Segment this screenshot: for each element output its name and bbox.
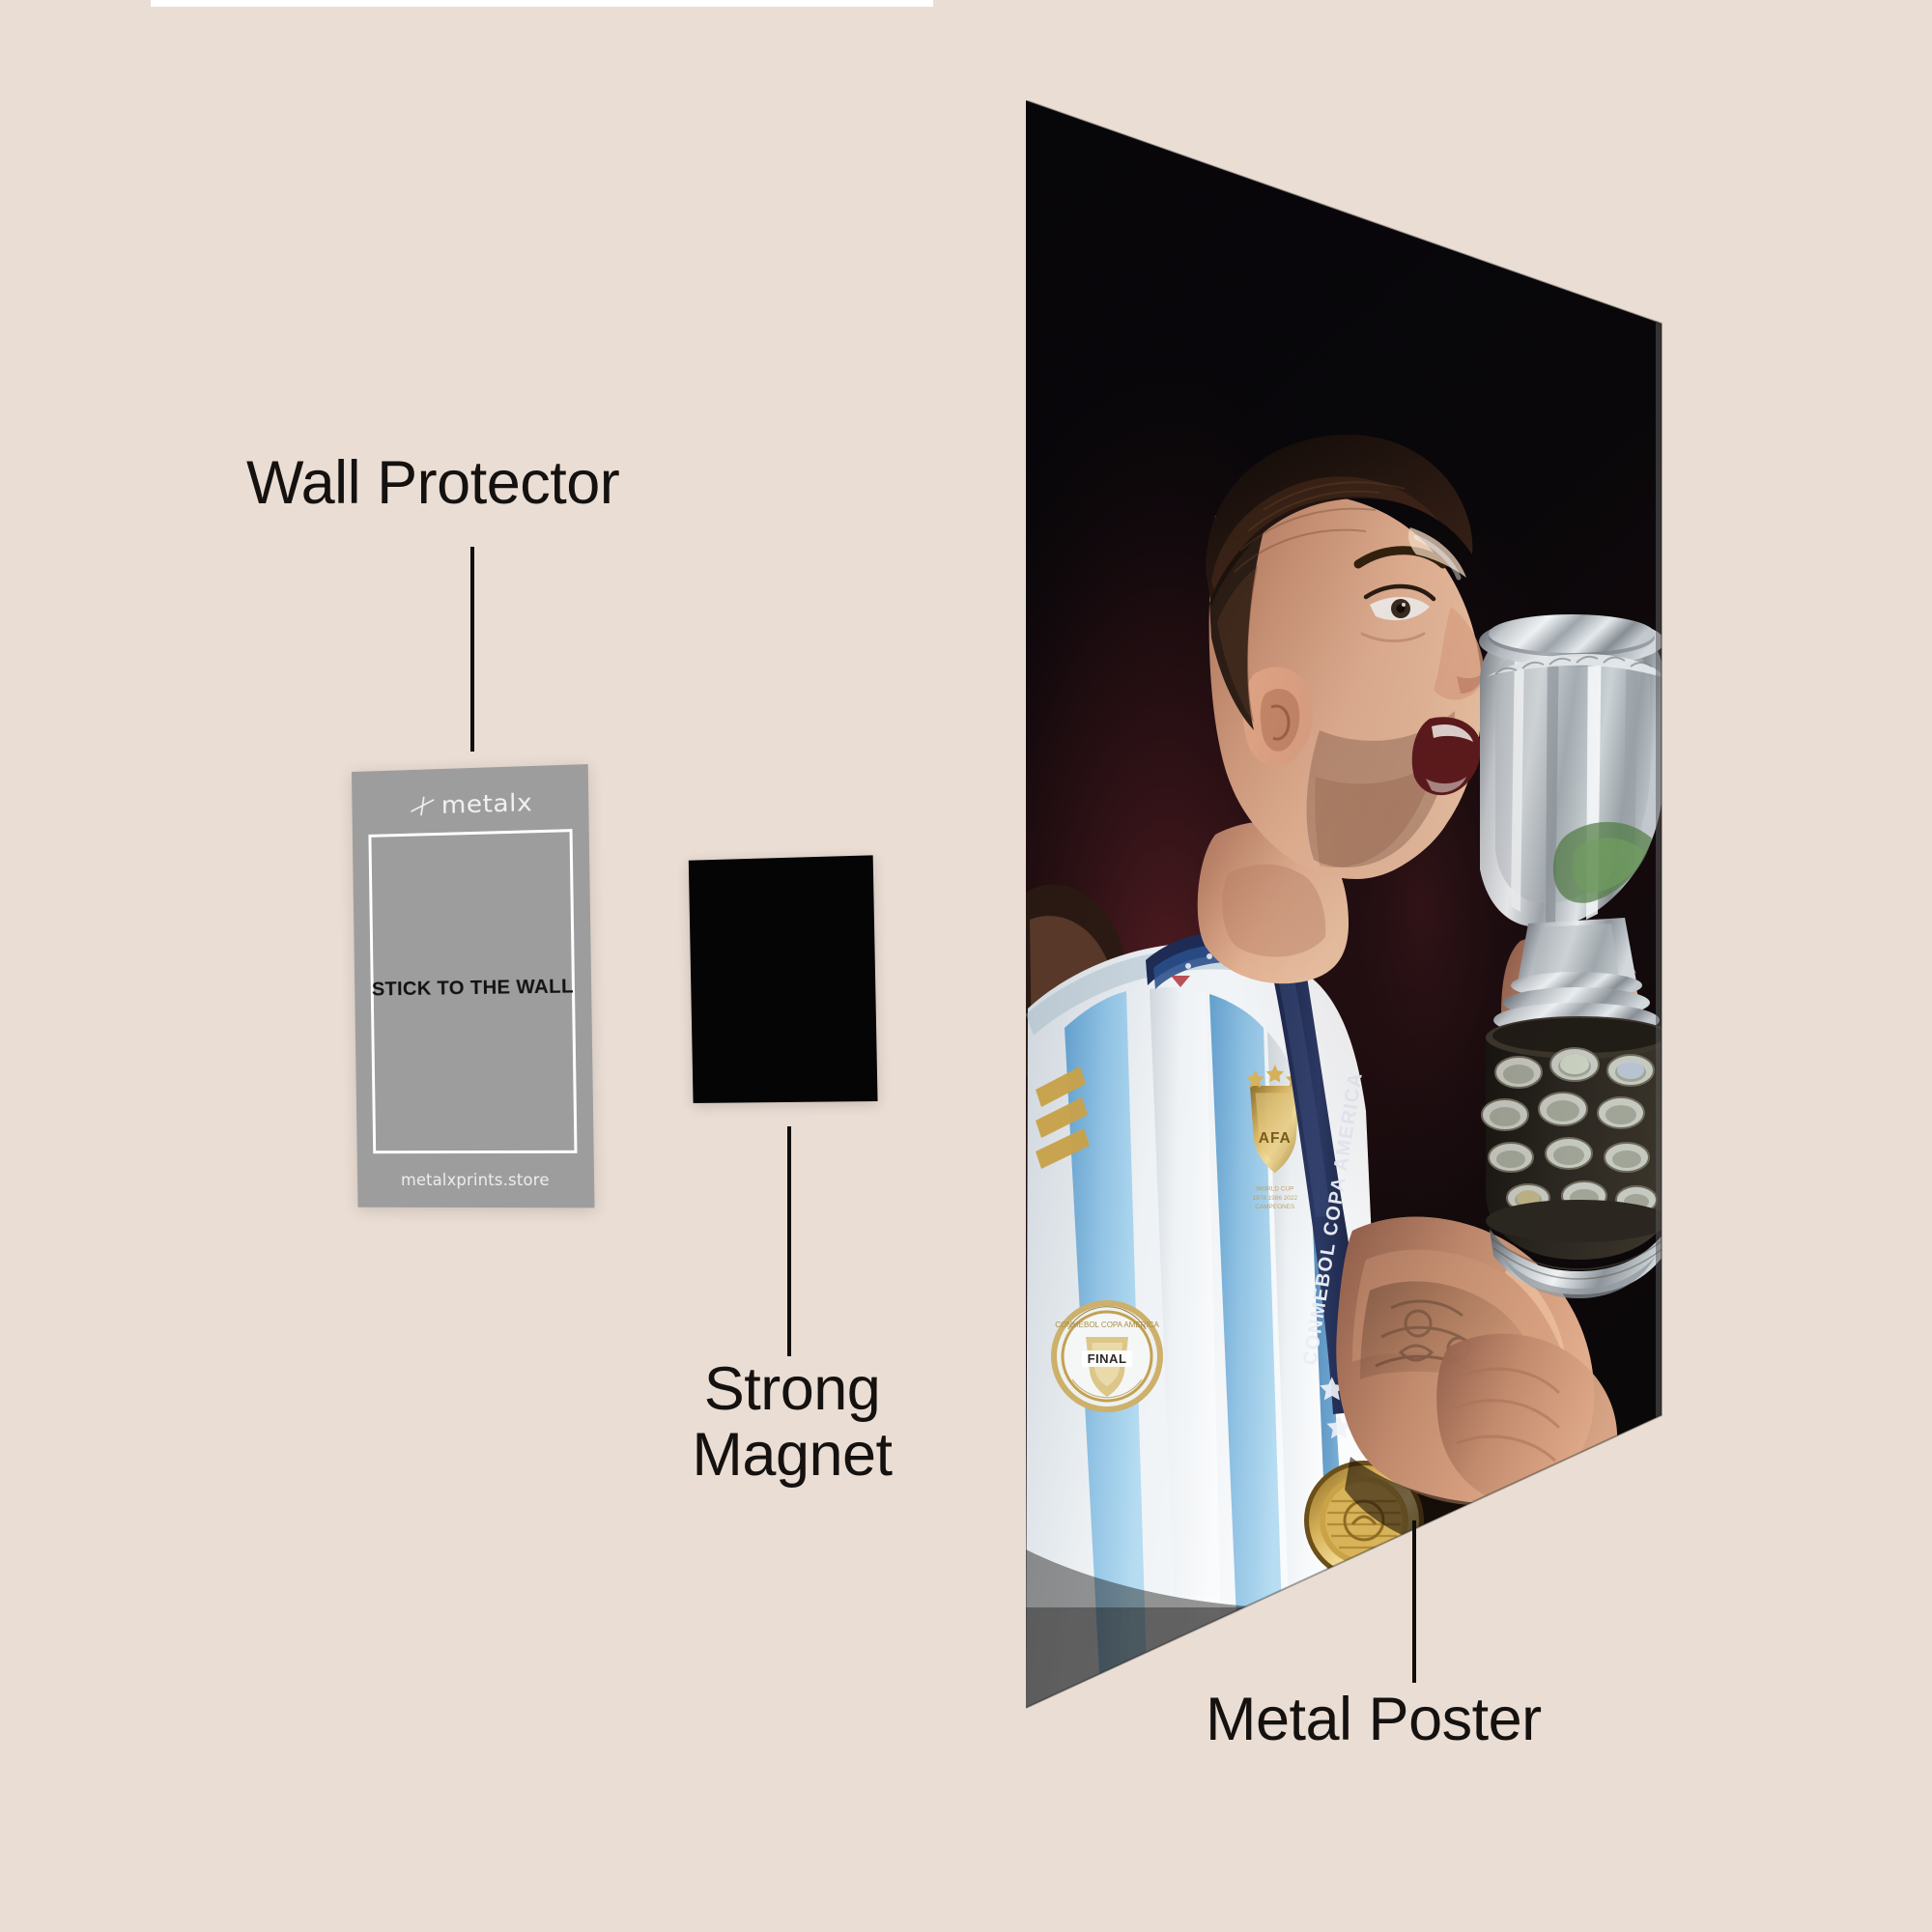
brand-logo-text: metalx [440,788,532,819]
callout-label-metal-poster: Metal Poster [1206,1687,1542,1752]
wall-protector-card[interactable]: metalx STICK TO THE WALL metalxprints.st… [352,764,595,1207]
metalx-cross-icon [410,795,436,817]
callout-label-strong-magnet: Strong Magnet [667,1356,918,1488]
product-infographic: Wall Protector metalx STICK TO THE WALL … [0,0,1932,1932]
strong-magnet-square[interactable] [689,855,878,1103]
metal-poster-panel[interactable]: AFA WORLD CUP 1978 1986 2022 CAMPEONES [1026,100,1663,1714]
card-store-url: metalxprints.store [357,1171,594,1189]
top-white-strip [151,0,933,7]
brand-logo: metalx [352,786,588,821]
leader-line-metal-poster [1412,1520,1416,1683]
leader-line-magnet [787,1126,791,1356]
card-center-text: STICK TO THE WALL [355,975,591,1002]
poster-artwork: AFA WORLD CUP 1978 1986 2022 CAMPEONES [1026,100,1663,1714]
leader-line-wall-protector [470,547,474,752]
callout-label-wall-protector: Wall Protector [246,450,619,516]
